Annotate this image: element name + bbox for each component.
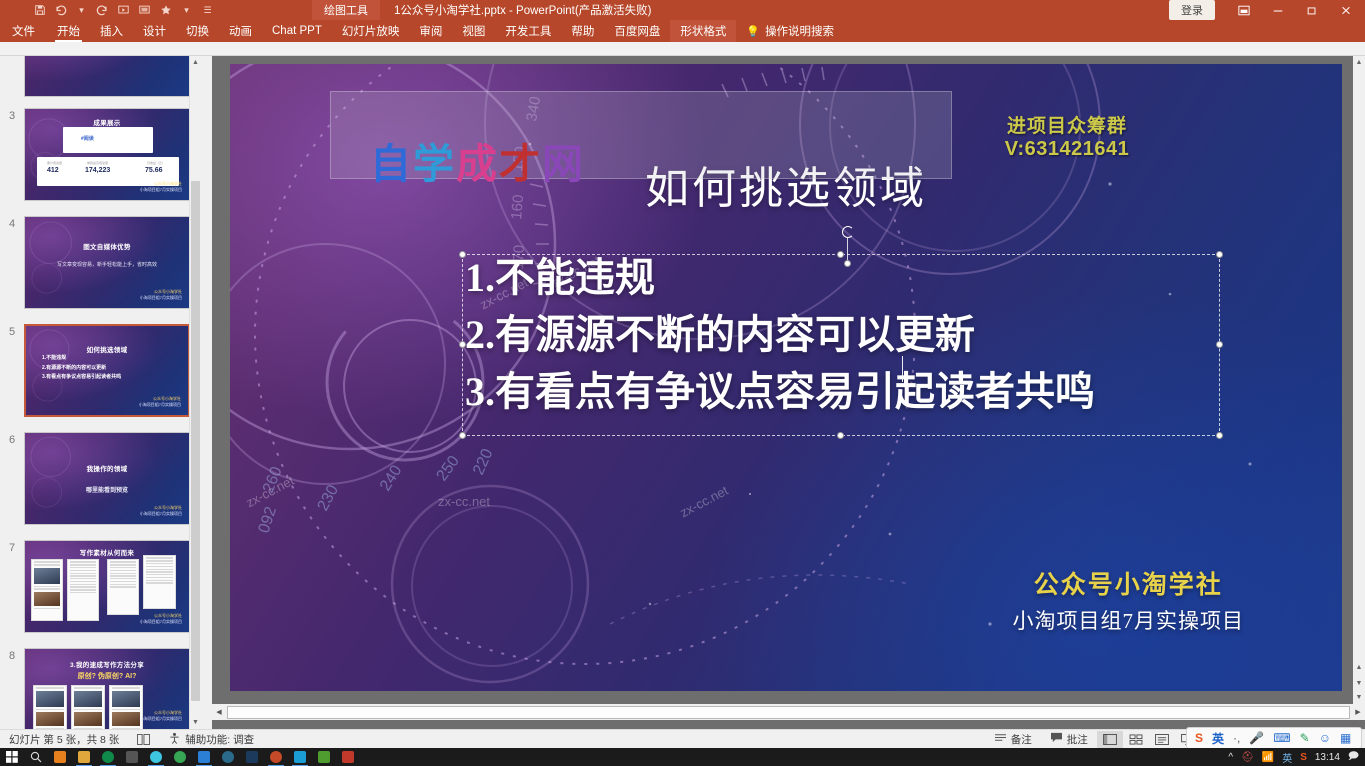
comments-button[interactable]: 批注 xyxy=(1041,732,1097,747)
site-watermark: zx-cc.net xyxy=(244,473,297,511)
next-slide-icon[interactable]: ▼ xyxy=(1353,677,1365,690)
brand-line-1: 公众号小淘学社 xyxy=(1013,565,1245,601)
thumbnail-screenshot xyxy=(33,685,67,729)
quick-access-toolbar: ▾ ▾ ☰ xyxy=(0,1,217,19)
notification-center-icon[interactable]: 🗩 xyxy=(1348,749,1359,766)
security-icon[interactable]: ⛑ xyxy=(1241,752,1254,763)
customize-qat-icon[interactable]: ☰ xyxy=(198,1,217,19)
thumbnail-slide-2[interactable]: 2 xyxy=(0,56,200,97)
ribbon-tab-baidu-netdisk[interactable]: 百度网盘 xyxy=(604,20,670,42)
taskbar-app-wechat[interactable] xyxy=(192,748,216,766)
svg-text:260: 260 xyxy=(260,464,286,495)
lightbulb-icon: 💡 xyxy=(746,25,760,38)
sogou-logo-icon[interactable]: S xyxy=(1195,731,1203,745)
ribbon-tab-home[interactable]: 开始 xyxy=(47,20,90,42)
favorite-dropdown-icon[interactable]: ▾ xyxy=(177,1,196,19)
ribbon-tab-file[interactable]: 文件 xyxy=(0,20,47,42)
slide-horizontal-scrollbar[interactable]: ◀ ▶ xyxy=(212,704,1365,720)
ad-overlay-line-1: 进项目众筹群 xyxy=(957,111,1177,138)
thumbnail-footer: 公众号小淘学社 小淘项目组7月实操项目 xyxy=(140,289,182,301)
ime-lang-tray[interactable]: 英 xyxy=(1282,750,1292,765)
thumbnail-image[interactable] xyxy=(24,56,190,97)
save-icon[interactable] xyxy=(30,1,49,19)
scroll-down-icon[interactable]: ▼ xyxy=(190,716,200,729)
ribbon-body xyxy=(0,42,1365,56)
ribbon-tab-chat-ppt[interactable]: Chat PPT xyxy=(262,20,332,42)
resize-handle-top-right[interactable] xyxy=(1216,251,1223,258)
emoji-icon[interactable]: ☺ xyxy=(1319,731,1331,745)
thumbnail-slide-6[interactable]: 6 我操作的领域 哪里能看到预览 公众号小淘学社 小淘项目组7月实操项目 xyxy=(0,432,200,525)
thumbnail-slide-8[interactable]: 8 3.我的速成写作方法分享 原创? 伪原创? AI? 公众号小 xyxy=(0,648,200,729)
slide-counter[interactable]: 幻灯片 第 5 张，共 8 张 xyxy=(0,732,128,747)
thumbnail-number: 7 xyxy=(0,540,24,633)
thumbnail-number: 6 xyxy=(0,432,24,525)
tell-me-label: 操作说明搜索 xyxy=(765,23,834,39)
ribbon-tab-strip: 文件 开始 插入 设计 切换 动画 Chat PPT 幻灯片放映 审阅 视图 开… xyxy=(0,20,1365,42)
current-slide[interactable]: 340 150 160 170 092 220 230 240 250 260 xyxy=(230,64,1342,691)
ribbon-tab-review[interactable]: 审阅 xyxy=(409,20,452,42)
thumbnail-screenshot xyxy=(67,559,99,621)
ime-punctuation-icon[interactable]: ·, xyxy=(1233,731,1240,745)
ribbon-tab-slideshow[interactable]: 幻灯片放映 xyxy=(332,20,410,42)
accessibility-status[interactable]: 辅助功能: 调查 xyxy=(159,732,263,747)
taskbar-app-teal[interactable] xyxy=(216,748,240,766)
start-from-beginning-icon[interactable] xyxy=(114,1,133,19)
comments-label: 批注 xyxy=(1067,732,1088,747)
thumbnail-bullets: 1.不能违规 2.有源源不断的内容可以更新 3.有看点有争议点容易引起读者共鸣 xyxy=(42,354,121,383)
svg-text:240: 240 xyxy=(377,462,406,494)
slide-sorter-icon[interactable] xyxy=(1123,731,1149,748)
taskbar-app-chrome[interactable] xyxy=(168,748,192,766)
previous-slide-icon[interactable]: ▲ xyxy=(1353,661,1365,674)
thumbnail-stat-value: 75.66 xyxy=(145,167,163,174)
scroll-up-icon[interactable]: ▲ xyxy=(1353,56,1365,69)
notes-button[interactable]: 备注 xyxy=(985,732,1041,747)
thumbnail-footer: 公众号小淘学社 小淘项目组7月实操项目 xyxy=(140,181,182,193)
scroll-right-icon[interactable]: ▶ xyxy=(1351,705,1365,719)
thumbnail-footer: 公众号小淘学社 小淘项目组7月实操项目 xyxy=(140,505,182,517)
thumbnail-stat-label: 月收益（元） xyxy=(147,161,165,165)
restore-icon[interactable] xyxy=(1295,0,1329,20)
resize-handle-bottom-right[interactable] xyxy=(1216,432,1223,439)
scroll-up-icon[interactable]: ▲ xyxy=(190,56,200,69)
minimize-icon[interactable] xyxy=(1261,0,1295,20)
thumbnail-slide-7[interactable]: 7 写作素材从何而来 xyxy=(0,540,200,633)
accessibility-label: 辅助功能: 调查 xyxy=(185,732,254,747)
thumbnail-screenshot xyxy=(109,685,143,729)
taskbar-app-edge[interactable] xyxy=(96,748,120,766)
windows-taskbar: ^ ⛑ 📶 英 S 13:14 🗩 xyxy=(0,748,1365,766)
ribbon-tab-developer[interactable]: 开发工具 xyxy=(495,20,561,42)
apps-icon[interactable]: ▦ xyxy=(1340,731,1351,745)
undo-icon[interactable] xyxy=(51,1,70,19)
show-hidden-icons-icon[interactable]: ^ xyxy=(1228,752,1233,763)
thumbnail-number: 4 xyxy=(0,216,24,309)
taskbar-app-blue[interactable] xyxy=(288,748,312,766)
slide-thumbnail-pane[interactable]: 2 3 成果展示 #阅读 累计阅读量 xyxy=(0,56,200,729)
thumbnail-subtitle: 写文章变现容易，新手轻松能上手，省时高效 xyxy=(25,261,189,268)
thumbnail-pane-scrollbar[interactable]: ▲ ▼ xyxy=(189,56,200,729)
ribbon-tab-view[interactable]: 视图 xyxy=(452,20,495,42)
slide-vertical-scrollbar[interactable]: ▲ ▲ ▼ ▼ xyxy=(1353,56,1365,704)
redo-icon[interactable] xyxy=(93,1,112,19)
thumbnail-image[interactable]: 成果展示 #阅读 累计阅读量 412 单篇最高阅读量 174,223 月收益（元… xyxy=(24,108,190,201)
system-tray: ^ ⛑ 📶 英 S 13:14 🗩 xyxy=(1228,749,1365,766)
ribbon-display-options-icon[interactable] xyxy=(1227,0,1261,20)
thumbnail-footer: 公众号小淘学社 小淘项目组7月实操项目 xyxy=(140,710,182,722)
powerpoint-window: ▾ ▾ ☰ 绘图工具 1公众号小淘学社.pptx - PowerPoint(产品… xyxy=(0,0,1365,766)
taskbar-app-red[interactable] xyxy=(336,748,360,766)
site-watermark: zx-cc.net xyxy=(678,483,731,521)
ribbon-tab-help[interactable]: 帮助 xyxy=(561,20,604,42)
sogou-icon[interactable]: S xyxy=(1300,752,1307,763)
status-bar: 幻灯片 第 5 张，共 8 张 辅助功能: 调查 备注 批注 xyxy=(0,729,1365,748)
watermark-text: 自学成才网 xyxy=(370,130,585,190)
ribbon-tab-shape-format[interactable]: 形状格式 xyxy=(670,20,736,42)
resize-handle-top-center[interactable] xyxy=(837,251,844,258)
site-watermark: zx-cc.net xyxy=(438,494,490,509)
thumbnail-number: 8 xyxy=(0,648,24,729)
window-title: 1公众号小淘学社.pptx - PowerPoint(产品激活失败) xyxy=(380,2,1169,18)
normal-view-icon[interactable] xyxy=(1097,731,1123,748)
resize-handle-middle-left[interactable] xyxy=(459,341,466,348)
thumbnail-number: 2 xyxy=(0,56,24,97)
clock[interactable]: 13:14 xyxy=(1315,752,1340,763)
thumbnail-image-selected[interactable]: 如何挑选领域 1.不能违规 2.有源源不断的内容可以更新 3.有看点有争议点容易… xyxy=(24,324,190,417)
thumbnail-title: 3.我的速成写作方法分享 xyxy=(25,659,189,669)
undo-dropdown-icon[interactable]: ▾ xyxy=(72,1,91,19)
tell-me-search[interactable]: 💡 操作说明搜索 xyxy=(736,20,844,42)
taskbar-app-cloud[interactable] xyxy=(144,748,168,766)
thumbnail-background xyxy=(25,56,189,96)
thumbnail-stat-value: 412 xyxy=(47,167,59,174)
favorite-icon[interactable] xyxy=(156,1,175,19)
thumbnail-screenshot xyxy=(107,559,139,615)
close-icon[interactable] xyxy=(1329,0,1363,20)
slide-editing-area[interactable]: 340 150 160 170 092 220 230 240 250 260 xyxy=(212,56,1365,729)
svg-text:220: 220 xyxy=(470,446,496,477)
thumbnail-screenshot xyxy=(71,685,105,729)
thumbnail-title: 成果展示 xyxy=(25,117,189,127)
svg-text:230: 230 xyxy=(315,482,343,514)
ribbon-tab-insert[interactable]: 插入 xyxy=(90,20,133,42)
taskbar-app-green[interactable] xyxy=(312,748,336,766)
scroll-left-icon[interactable]: ◀ xyxy=(212,705,226,719)
ribbon-tab-design[interactable]: 设计 xyxy=(133,20,176,42)
resize-handle-bottom-left[interactable] xyxy=(459,432,466,439)
thumbnail-image[interactable]: 我操作的领域 哪里能看到预览 公众号小淘学社 小淘项目组7月实操项目 xyxy=(24,432,190,525)
notes-label: 备注 xyxy=(1011,732,1032,747)
text-cursor-icon xyxy=(902,356,903,382)
start-from-current-icon[interactable] xyxy=(135,1,154,19)
ime-language-indicator[interactable]: 英 xyxy=(1212,730,1224,747)
ribbon-tab-transitions[interactable]: 切换 xyxy=(176,20,219,42)
thumbnail-footer: 公众号小淘学社 小淘项目组7月实操项目 xyxy=(140,613,182,625)
ime-floating-toolbar[interactable]: S 英 ·, 🎤 ⌨ ✎ ☺ ▦ xyxy=(1186,727,1362,749)
thumbnail-screenshot xyxy=(31,559,63,621)
scroll-down-icon[interactable]: ▼ xyxy=(1353,691,1365,704)
windows-start-icon[interactable] xyxy=(0,748,24,766)
horizontal-scrollbar-thumb[interactable] xyxy=(227,706,1350,719)
search-icon[interactable] xyxy=(24,748,48,766)
resize-handle-middle-right[interactable] xyxy=(1216,341,1223,348)
brand-line-2: 小淘项目组7月实操项目 xyxy=(1013,605,1245,635)
slide-footer-brand[interactable]: 公众号小淘学社 小淘项目组7月实操项目 xyxy=(1013,565,1245,635)
comment-icon xyxy=(1050,732,1063,746)
taskbar-app-photoshop[interactable] xyxy=(240,748,264,766)
thumbnail-footer: 公众号小淘学社 小淘项目组7月实操项目 xyxy=(139,396,181,408)
svg-text:250: 250 xyxy=(433,453,463,485)
sign-in-button[interactable]: 登录 xyxy=(1169,0,1215,20)
pen-icon[interactable]: ✎ xyxy=(1300,731,1310,745)
thumbnail-number: 3 xyxy=(0,108,24,201)
title-bar: ▾ ▾ ☰ 绘图工具 1公众号小淘学社.pptx - PowerPoint(产品… xyxy=(0,0,1365,20)
thumbnail-slide-5[interactable]: 5 如何挑选领域 1.不能违规 2.有源源不断的内容可以更新 3.有看点有争议点… xyxy=(0,324,200,417)
contextual-tab-drawing-tools[interactable]: 绘图工具 xyxy=(312,0,380,20)
resize-handle-top-left[interactable] xyxy=(459,251,466,258)
window-controls: 登录 xyxy=(1169,0,1365,20)
thumbnail-image[interactable]: 3.我的速成写作方法分享 原创? 伪原创? AI? 公众号小淘学社 小淘项目组7… xyxy=(24,648,190,729)
mic-icon[interactable]: 🎤 xyxy=(1249,731,1264,745)
resize-handle-bottom-center[interactable] xyxy=(837,432,844,439)
thumbnail-image[interactable]: 写作素材从何而来 公众号小淘学社 小淘项目组7月实 xyxy=(24,540,190,633)
slide-layout-icon[interactable] xyxy=(128,734,159,745)
selection-bounding-box[interactable] xyxy=(462,254,1220,436)
thumbnail-stat-label: 单篇最高阅读量 xyxy=(87,161,108,165)
keyboard-icon[interactable]: ⌨ xyxy=(1273,731,1290,745)
thumbnail-card-value: #阅读 xyxy=(81,135,94,142)
thumbnail-screenshot xyxy=(143,555,176,609)
thumbnail-title: 如何挑选领域 xyxy=(26,344,188,354)
accessibility-icon xyxy=(168,732,181,747)
thumbnail-stat-value: 174,223 xyxy=(85,167,110,174)
taskbar-app-powerpoint[interactable] xyxy=(264,748,288,766)
thumbnail-subtitle: 哪里能看到预览 xyxy=(25,485,189,494)
thumbnail-title: 图文自媒体优势 xyxy=(25,241,189,251)
thumbnail-number: 5 xyxy=(0,324,24,417)
thumbnail-image[interactable]: 图文自媒体优势 写文章变现容易，新手轻松能上手，省时高效 公众号小淘学社 小淘项… xyxy=(24,216,190,309)
thumbnail-stat-label: 累计阅读量 xyxy=(47,161,62,165)
thumbnail-subtitle: 原创? 伪原创? AI? xyxy=(25,671,189,681)
svg-text:092: 092 xyxy=(256,504,280,535)
network-icon[interactable]: 📶 xyxy=(1262,752,1274,763)
thumbnail-slide-3[interactable]: 3 成果展示 #阅读 累计阅读量 412 单篇最高阅读量 174,223 月收益 xyxy=(0,108,200,201)
notes-icon xyxy=(994,732,1007,746)
ribbon-tab-animations[interactable]: 动画 xyxy=(219,20,262,42)
thumbnail-title: 我操作的领域 xyxy=(25,463,189,473)
thumbnail-card xyxy=(63,127,153,153)
scrollbar-thumb[interactable] xyxy=(191,181,200,701)
workspace: 2 3 成果展示 #阅读 累计阅读量 xyxy=(0,56,1365,729)
thumbnail-slide-4[interactable]: 4 图文自媒体优势 写文章变现容易，新手轻松能上手，省时高效 公众号小淘学社 小… xyxy=(0,216,200,309)
taskbar-app-star[interactable] xyxy=(48,748,72,766)
taskbar-app-dark[interactable] xyxy=(120,748,144,766)
taskbar-app-explorer[interactable] xyxy=(72,748,96,766)
reading-view-icon[interactable] xyxy=(1149,731,1175,748)
